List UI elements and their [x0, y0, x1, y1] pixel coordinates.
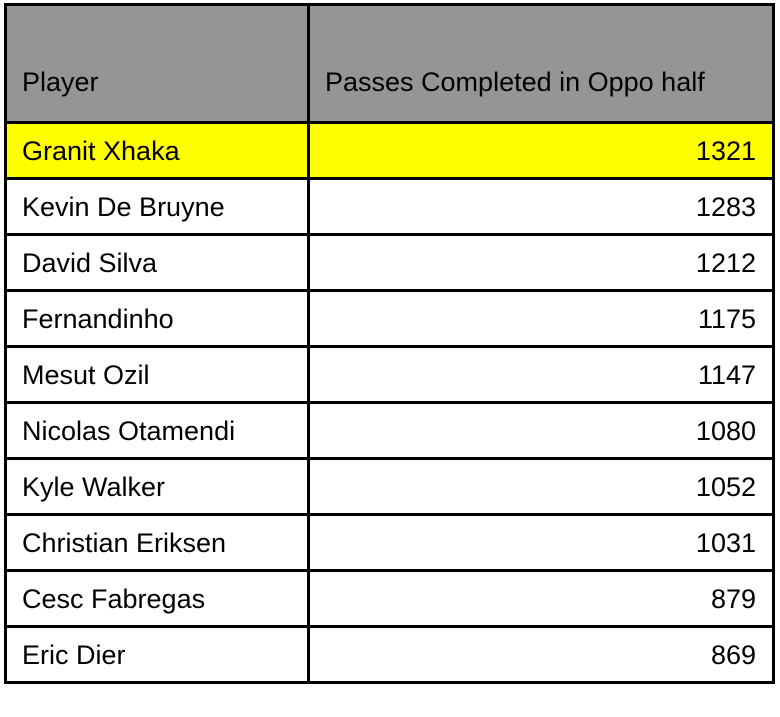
cell-player: Kevin De Bruyne	[6, 179, 309, 235]
passes-value: 1052	[310, 472, 772, 502]
player-name: David Silva	[7, 248, 307, 278]
passes-value: 1147	[310, 360, 772, 390]
player-name: Kyle Walker	[7, 472, 307, 502]
table-row[interactable]: Nicolas Otamendi 1080	[6, 403, 774, 459]
column-header-player-label: Player	[7, 57, 307, 121]
passes-value: 1321	[310, 136, 772, 166]
cell-passes: 1080	[309, 403, 774, 459]
cell-passes: 1283	[309, 179, 774, 235]
cell-passes: 1212	[309, 235, 774, 291]
cell-passes: 1147	[309, 347, 774, 403]
column-header-passes-label: Passes Completed in Oppo half	[310, 57, 772, 121]
cell-player: Nicolas Otamendi	[6, 403, 309, 459]
cell-player: Mesut Ozil	[6, 347, 309, 403]
cell-passes: 1052	[309, 459, 774, 515]
column-header-player[interactable]: Player	[6, 5, 309, 123]
cell-player: Fernandinho	[6, 291, 309, 347]
cell-player: David Silva	[6, 235, 309, 291]
cell-player: Eric Dier	[6, 627, 309, 683]
table-header: Player Passes Completed in Oppo half	[6, 5, 774, 123]
passes-value: 869	[310, 640, 772, 670]
player-name: Nicolas Otamendi	[7, 416, 307, 446]
table-row[interactable]: Cesc Fabregas 879	[6, 571, 774, 627]
passes-value: 1175	[310, 304, 772, 334]
player-name: Eric Dier	[7, 640, 307, 670]
player-name: Mesut Ozil	[7, 360, 307, 390]
table-row[interactable]: Kevin De Bruyne 1283	[6, 179, 774, 235]
cell-passes: 869	[309, 627, 774, 683]
cell-passes: 1321	[309, 123, 774, 179]
cell-player: Cesc Fabregas	[6, 571, 309, 627]
cell-player: Granit Xhaka	[6, 123, 309, 179]
table-row[interactable]: Granit Xhaka 1321	[6, 123, 774, 179]
player-name: Granit Xhaka	[7, 136, 307, 166]
passes-value: 879	[310, 584, 772, 614]
table-row[interactable]: Fernandinho 1175	[6, 291, 774, 347]
cell-passes: 1031	[309, 515, 774, 571]
cell-player: Kyle Walker	[6, 459, 309, 515]
table-row[interactable]: Eric Dier 869	[6, 627, 774, 683]
table-header-row: Player Passes Completed in Oppo half	[6, 5, 774, 123]
passes-value: 1080	[310, 416, 772, 446]
passes-value: 1212	[310, 248, 772, 278]
player-name: Cesc Fabregas	[7, 584, 307, 614]
player-name: Fernandinho	[7, 304, 307, 334]
cell-passes: 879	[309, 571, 774, 627]
table-row[interactable]: Kyle Walker 1052	[6, 459, 774, 515]
passes-value: 1283	[310, 192, 772, 222]
page-root: Player Passes Completed in Oppo half Gra…	[0, 0, 780, 717]
player-name: Kevin De Bruyne	[7, 192, 307, 222]
passes-value: 1031	[310, 528, 772, 558]
passes-completed-table: Player Passes Completed in Oppo half Gra…	[4, 3, 775, 684]
cell-passes: 1175	[309, 291, 774, 347]
table-body: Granit Xhaka 1321 Kevin De Bruyne 1283 D…	[6, 123, 774, 683]
table-row[interactable]: David Silva 1212	[6, 235, 774, 291]
cell-player: Christian Eriksen	[6, 515, 309, 571]
column-header-passes[interactable]: Passes Completed in Oppo half	[309, 5, 774, 123]
table-row[interactable]: Christian Eriksen 1031	[6, 515, 774, 571]
table-row[interactable]: Mesut Ozil 1147	[6, 347, 774, 403]
player-name: Christian Eriksen	[7, 528, 307, 558]
